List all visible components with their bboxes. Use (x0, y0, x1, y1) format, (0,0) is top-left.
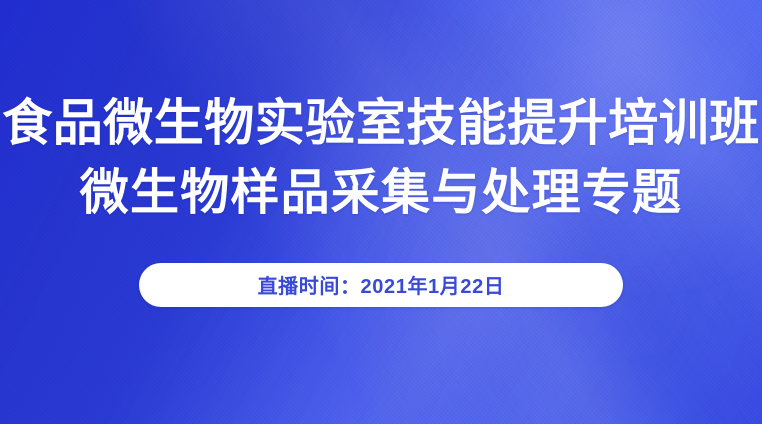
date-badge-container: 直播时间：2021年1月22日 (0, 263, 762, 307)
banner-title-line-1: 食品微生物实验室技能提升培训班 (0, 88, 762, 159)
banner-title-block: 食品微生物实验室技能提升培训班 微生物样品采集与处理专题 (0, 88, 762, 229)
live-date-badge: 直播时间：2021年1月22日 (139, 263, 623, 307)
banner-content: 食品微生物实验室技能提升培训班 微生物样品采集与处理专题 直播时间：2021年1… (0, 0, 762, 424)
live-date-badge-text: 直播时间：2021年1月22日 (258, 270, 505, 299)
course-promo-banner: 食品微生物实验室技能提升培训班 微生物样品采集与处理专题 直播时间：2021年1… (0, 0, 762, 424)
banner-title-line-2: 微生物样品采集与处理专题 (0, 159, 762, 229)
